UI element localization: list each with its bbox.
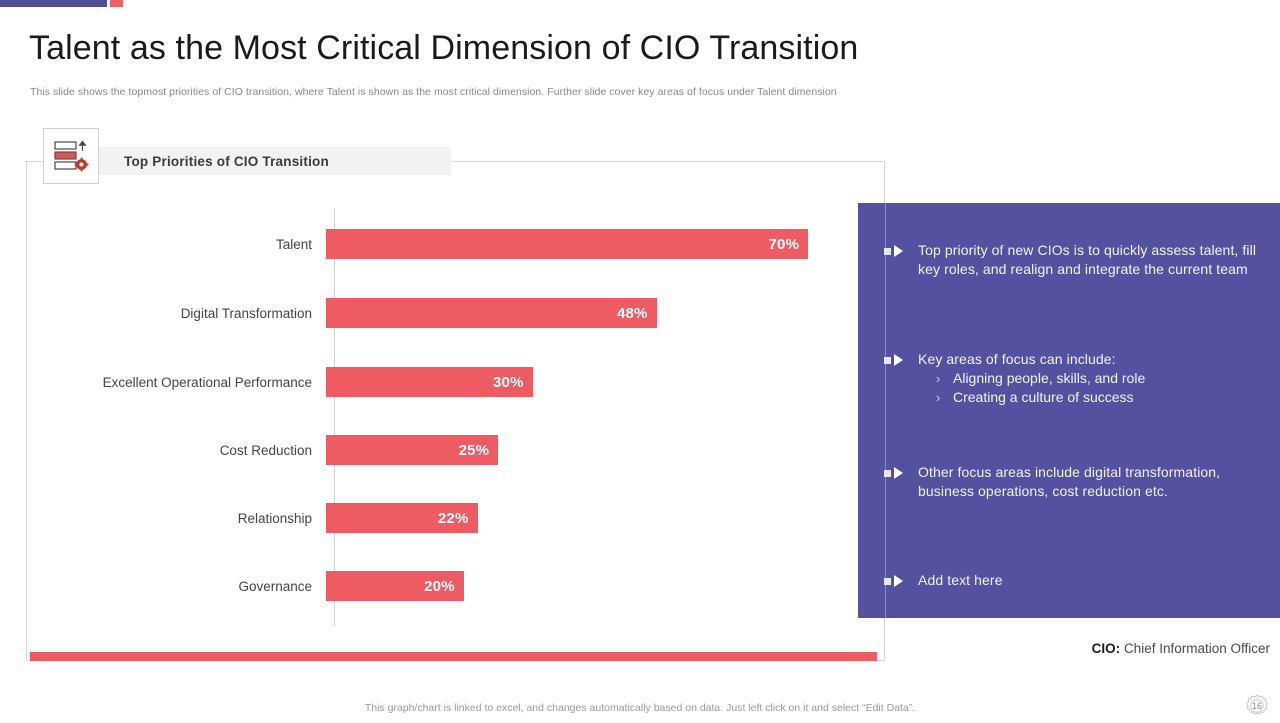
insights-bullet-item: Other focus areas include digital transf… xyxy=(884,463,1266,501)
bar-category-label: Excellent Operational Performance xyxy=(26,375,326,390)
bar-fill: 70% xyxy=(326,229,808,259)
bullet-marker-icon xyxy=(884,467,918,479)
insights-bullet-item: Add text here xyxy=(884,571,1266,590)
bullet-square-icon xyxy=(884,248,891,255)
insights-panel: Top priority of new CIOs is to quickly a… xyxy=(858,203,1280,618)
insights-sub-bullet-text: Aligning people, skills, and role xyxy=(953,369,1145,388)
abbreviation-legend-abbr: CIO: xyxy=(1092,641,1121,656)
bar-category-label: Cost Reduction xyxy=(26,443,326,458)
abbreviation-legend: CIO: Chief Information Officer xyxy=(1092,641,1270,656)
insights-bullet-body: Other focus areas include digital transf… xyxy=(918,463,1266,501)
bullet-triangle-icon xyxy=(894,467,903,479)
bar-chart-settings-icon xyxy=(43,128,99,184)
bullet-marker-icon xyxy=(884,575,918,587)
bar-category-label: Talent xyxy=(26,237,326,252)
bar-track: 20% xyxy=(326,571,885,601)
bullet-triangle-icon xyxy=(894,245,903,257)
bar-value-label: 70% xyxy=(769,236,800,253)
bar-category-label: Digital Transformation xyxy=(26,306,326,321)
bullet-square-icon xyxy=(884,357,891,364)
insights-sub-bullet-item: ›Aligning people, skills, and role xyxy=(918,369,1266,388)
insights-bullet-text: Other focus areas include digital transf… xyxy=(918,463,1266,501)
bar-value-label: 22% xyxy=(438,510,469,527)
insights-bullet-body: Add text here xyxy=(918,571,1266,590)
bar-row: Excellent Operational Performance30% xyxy=(26,367,885,397)
bullet-marker-icon xyxy=(884,245,918,257)
bar-chart[interactable]: Talent70%Digital Transformation48%Excell… xyxy=(26,200,885,625)
bullet-triangle-icon xyxy=(894,354,903,366)
bar-track: 70% xyxy=(326,229,885,259)
bullet-marker-icon xyxy=(884,354,918,366)
bar-value-label: 48% xyxy=(617,305,648,322)
bullet-triangle-icon xyxy=(894,575,903,587)
insights-bullet-text: Key areas of focus can include: xyxy=(918,350,1266,369)
bar-fill: 30% xyxy=(326,367,533,397)
insights-bullet-text: Top priority of new CIOs is to quickly a… xyxy=(918,241,1266,279)
abbreviation-legend-expansion: Chief Information Officer xyxy=(1124,641,1270,656)
bar-row: Cost Reduction25% xyxy=(26,435,885,465)
insights-bullet-text: Add text here xyxy=(918,571,1266,590)
insights-bullet-body: Key areas of focus can include:›Aligning… xyxy=(918,350,1266,407)
bar-fill: 25% xyxy=(326,435,498,465)
bar-chart-settings-icon-svg xyxy=(53,139,89,173)
bar-value-label: 25% xyxy=(459,442,490,459)
bar-row: Digital Transformation48% xyxy=(26,298,885,328)
bar-value-label: 20% xyxy=(424,578,455,595)
insights-bullet-item: Key areas of focus can include:›Aligning… xyxy=(884,350,1266,407)
chevron-right-icon: › xyxy=(936,388,953,407)
insights-bullet-body: Top priority of new CIOs is to quickly a… xyxy=(918,241,1266,279)
top-accent-bar-purple xyxy=(0,0,107,7)
page-number: 16 xyxy=(1245,694,1269,718)
bar-value-label: 30% xyxy=(493,374,524,391)
bar-track: 22% xyxy=(326,503,885,533)
bar-row: Governance20% xyxy=(26,571,885,601)
chart-axis-line xyxy=(334,208,335,626)
insights-bullet-item: Top priority of new CIOs is to quickly a… xyxy=(884,241,1266,279)
bar-category-label: Relationship xyxy=(26,511,326,526)
bar-category-label: Governance xyxy=(26,579,326,594)
chart-header-band: Top Priorities of CIO Transition xyxy=(99,147,451,175)
bar-track: 25% xyxy=(326,435,885,465)
bar-track: 48% xyxy=(326,298,885,328)
bar-track: 30% xyxy=(326,367,885,397)
page-subtitle: This slide shows the topmost priorities … xyxy=(30,86,837,98)
bar-row: Relationship22% xyxy=(26,503,885,533)
bar-fill: 22% xyxy=(326,503,478,533)
bullet-square-icon xyxy=(884,578,891,585)
insights-sub-bullet-item: ›Creating a culture of success xyxy=(918,388,1266,407)
bar-fill: 20% xyxy=(326,571,464,601)
top-accent-bar-red xyxy=(110,0,123,7)
insights-sub-bullet-text: Creating a culture of success xyxy=(953,388,1134,407)
bullet-square-icon xyxy=(884,470,891,477)
page-title: Talent as the Most Critical Dimension of… xyxy=(29,29,858,68)
insights-sub-bullet-list: ›Aligning people, skills, and role›Creat… xyxy=(918,369,1266,407)
chart-header-title: Top Priorities of CIO Transition xyxy=(124,154,329,169)
chevron-right-icon: › xyxy=(936,369,953,388)
chart-card-bottom-accent xyxy=(30,652,877,661)
chart-footnote: This graph/chart is linked to excel, and… xyxy=(0,702,1280,714)
bar-row: Talent70% xyxy=(26,229,885,259)
page-number-badge: 16 xyxy=(1245,694,1269,718)
bar-fill: 48% xyxy=(326,298,657,328)
